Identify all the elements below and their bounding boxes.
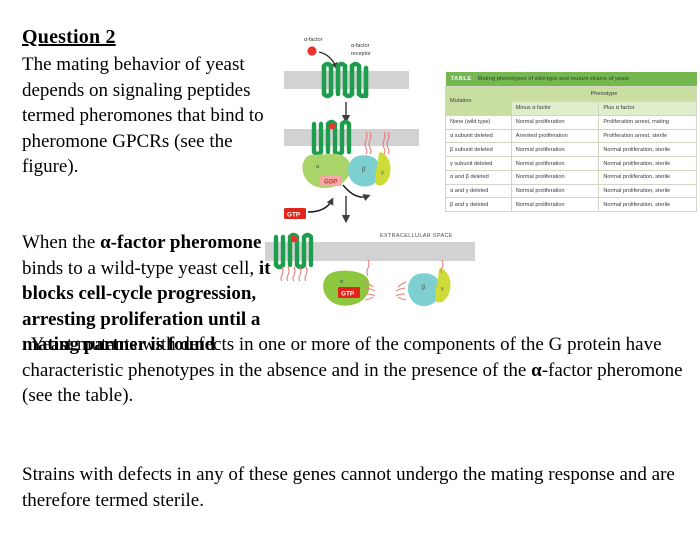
g-gamma-label-3: γ: [441, 286, 444, 292]
mid-text-c: binds to a wild-type yeast cell,: [22, 258, 259, 279]
alpha-factor-ligand-icon: [307, 46, 316, 55]
cell-plus-alpha: Normal proliferation, sterile: [599, 143, 697, 157]
cell-minus-alpha: Arrested proliferation: [511, 129, 599, 143]
header-minus-alpha-factor: Minus α factor: [511, 102, 599, 116]
cell-plus-alpha: Normal proliferation, sterile: [599, 198, 697, 212]
table-row: α and γ deletedNormal proliferationNorma…: [446, 184, 697, 198]
cell-minus-alpha: Normal proliferation: [511, 143, 599, 157]
alpha-factor-label: α-factor: [304, 37, 323, 43]
cell-plus-alpha: Normal proliferation, sterile: [599, 184, 697, 198]
table-row: α and β deletedNormal proliferationNorma…: [446, 170, 697, 184]
intro-paragraph: The mating behavior of yeast depends on …: [22, 52, 272, 180]
membrane-band-2: [284, 129, 419, 146]
table-title-cell: TABLEMating phenotypes of wild-type and …: [446, 72, 697, 87]
cell-plus-alpha: Normal proliferation, sterile: [599, 157, 697, 171]
cell-minus-alpha: Normal proliferation: [511, 157, 599, 171]
wide-paragraph: . Yeast mutants with defects in one or m…: [22, 332, 684, 409]
cell-mutation: α and β deleted: [446, 170, 512, 184]
alpha-factor-receptor-label-line1: α-factor: [351, 43, 370, 49]
header-phenotype: Phenotype: [511, 87, 696, 102]
page-title: Question 2: [22, 26, 116, 49]
cell-plus-alpha: Proliferation arrest, mating: [599, 115, 697, 129]
receptor-lipids-3: [281, 267, 307, 281]
panel-ligand-binding: α-factor α-factor receptor: [284, 37, 409, 120]
cell-mutation: α subunit deleted: [446, 129, 512, 143]
cell-mutation: γ subunit deleted: [446, 157, 512, 171]
gdp-label: GDP: [324, 179, 337, 186]
g-gamma-subunit-2: [375, 152, 390, 186]
cell-minus-alpha: Normal proliferation: [511, 184, 599, 198]
final-paragraph: Strains with defects in any of these gen…: [22, 462, 684, 513]
cell-minus-alpha: Normal proliferation: [511, 115, 599, 129]
table-row: γ subunit deletedNormal proliferationNor…: [446, 157, 697, 171]
header-mutation: Mutation: [446, 87, 512, 116]
header-plus-alpha-factor: Plus α factor: [599, 102, 697, 116]
wide-alpha-bold: α: [531, 360, 542, 381]
cell-mutation: β and γ deleted: [446, 198, 512, 212]
table-row: β subunit deletedNormal proliferationNor…: [446, 143, 697, 157]
panel-g-protein-activation: α β γ GDP GTP: [284, 122, 419, 220]
gdp-release-arrow: [343, 185, 368, 197]
g-beta-label-3: β: [422, 285, 426, 291]
gpcr-receptor-1: [324, 64, 366, 96]
bound-ligand-icon-2: [329, 123, 336, 130]
bound-ligand-icon-3: [291, 236, 298, 243]
cell-mutation: None (wild type): [446, 115, 512, 129]
gtp-label-bottom: GTP: [341, 290, 355, 297]
panel-dissociated-subunits: EXTRACELLULAR SPACE α GTP β γ: [265, 233, 475, 306]
cell-minus-alpha: Normal proliferation: [511, 198, 599, 212]
gtp-binding-arrow: [308, 200, 332, 212]
g-gamma-label-2: γ: [381, 170, 384, 176]
cell-plus-alpha: Proliferation arrest, sterile: [599, 129, 697, 143]
gtp-label-mid: GTP: [287, 211, 301, 218]
table-body: TABLEMating phenotypes of wild-type and …: [446, 72, 697, 115]
table-header-row-1: Mutation Phenotype: [446, 87, 697, 102]
g-beta-label-2: β: [362, 167, 366, 173]
table-tag-label: TABLE: [451, 76, 472, 82]
table-row: α subunit deletedArrested proliferationP…: [446, 129, 697, 143]
cell-mutation: α and γ deleted: [446, 184, 512, 198]
table-title-row: TABLEMating phenotypes of wild-type and …: [446, 72, 697, 87]
table-row: β and γ deletedNormal proliferationNorma…: [446, 198, 697, 212]
mid-text-b-bold: α-factor pheromone: [100, 232, 261, 253]
table-row: None (wild type)Normal proliferationProl…: [446, 115, 697, 129]
cell-mutation: β subunit deleted: [446, 143, 512, 157]
mid-text-a: When the: [22, 232, 100, 253]
table-title-text: Mating phenotypes of wild-type and mutan…: [478, 76, 629, 82]
cell-minus-alpha: Normal proliferation: [511, 170, 599, 184]
table-data-rows: None (wild type)Normal proliferationProl…: [446, 115, 697, 211]
cell-plus-alpha: Normal proliferation, sterile: [599, 170, 697, 184]
extracellular-space-label: EXTRACELLULAR SPACE: [380, 233, 453, 239]
alpha-factor-receptor-label-line2: receptor: [351, 51, 371, 57]
phenotypes-table: TABLEMating phenotypes of wild-type and …: [445, 72, 697, 212]
